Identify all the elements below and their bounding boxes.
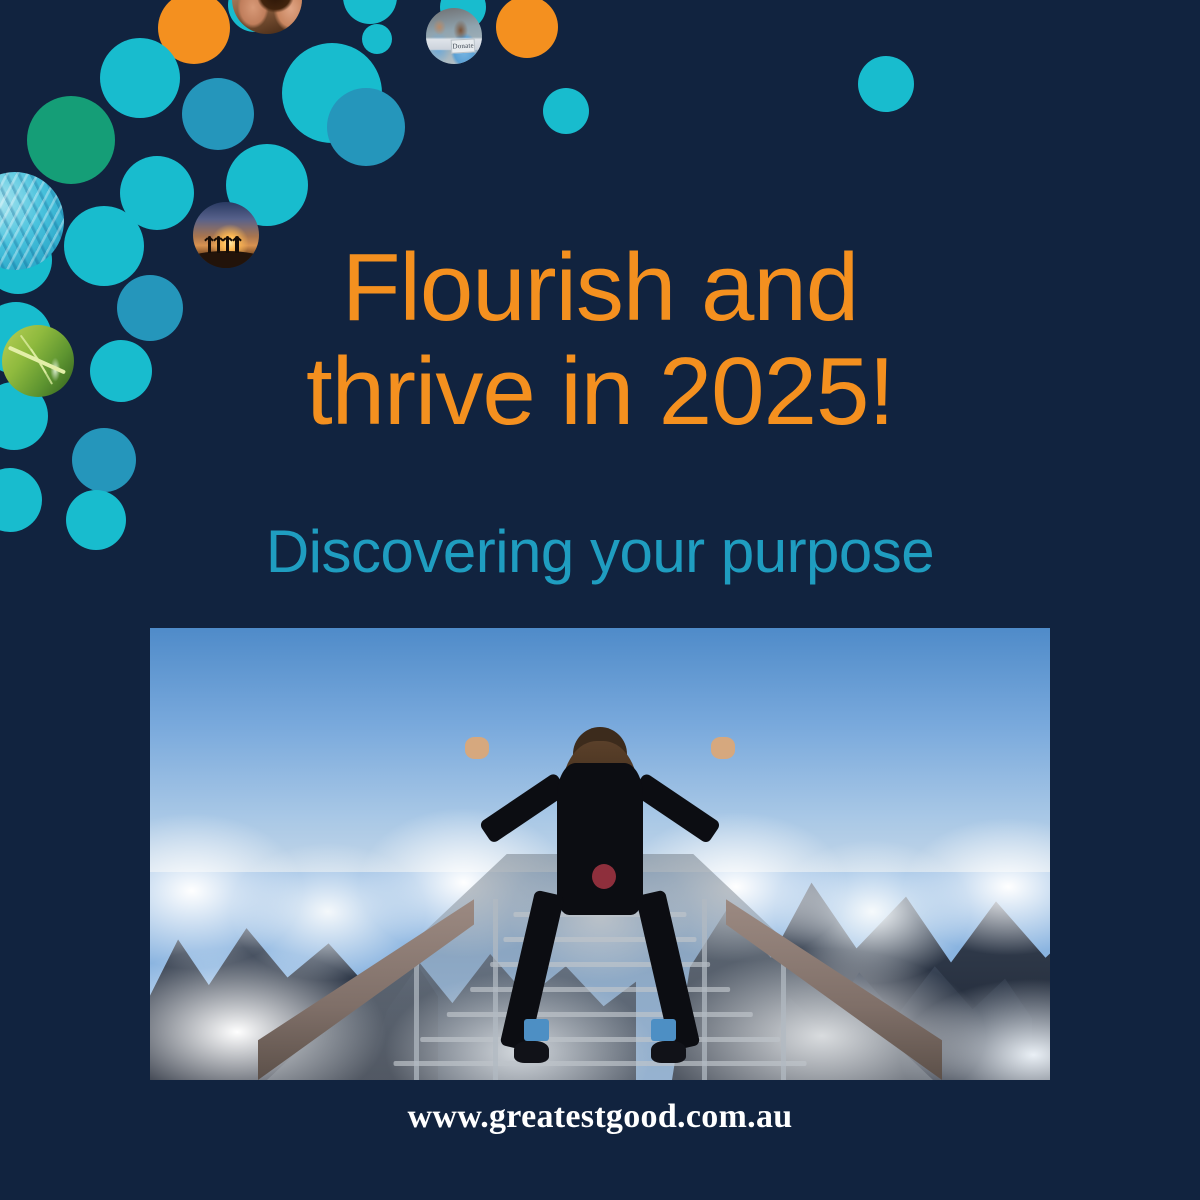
website-url: www.greatestgood.com.au: [0, 1098, 1200, 1136]
decor-dot: [27, 96, 115, 184]
decor-dot: [858, 56, 914, 112]
left-hand: [465, 737, 489, 759]
right-arm: [631, 772, 721, 844]
left-shoe: [514, 1041, 549, 1063]
decor-dot: [182, 78, 254, 150]
photo-circle-volunteers-donate: Donate: [426, 8, 482, 64]
decor-dot: [282, 43, 382, 143]
person-arms-outstretched: [465, 705, 735, 1067]
decor-dot: [362, 24, 392, 54]
decor-dot: [543, 88, 589, 134]
poster-canvas: Donate Flourish and thrive in 2025! Disc…: [0, 0, 1200, 1200]
decor-dot: [327, 88, 405, 166]
decor-dot: [343, 0, 397, 24]
decor-dot: [120, 156, 194, 230]
left-sock: [524, 1019, 548, 1041]
right-hand: [711, 737, 735, 759]
donate-sign: Donate: [450, 39, 475, 55]
subheadline-text: Discovering your purpose: [0, 518, 1200, 586]
photo-circle-hands-holding-soil: [232, 0, 302, 34]
decor-dot: [440, 0, 486, 30]
left-arm: [479, 772, 569, 844]
decor-dot: [100, 38, 180, 118]
right-sock: [651, 1019, 675, 1041]
hero-photo: [150, 628, 1050, 1080]
torso: [557, 763, 643, 915]
volunteers-photo-fill: [426, 8, 482, 64]
donate-sign-text: Donate: [452, 42, 474, 51]
decor-dot: [496, 0, 558, 58]
decor-dot: [228, 0, 282, 32]
decor-dot: [226, 144, 308, 226]
decor-dot: [158, 0, 230, 64]
soil-photo-fill: [232, 0, 302, 34]
headline-text: Flourish and thrive in 2025!: [0, 236, 1200, 444]
right-shoe: [651, 1041, 686, 1063]
